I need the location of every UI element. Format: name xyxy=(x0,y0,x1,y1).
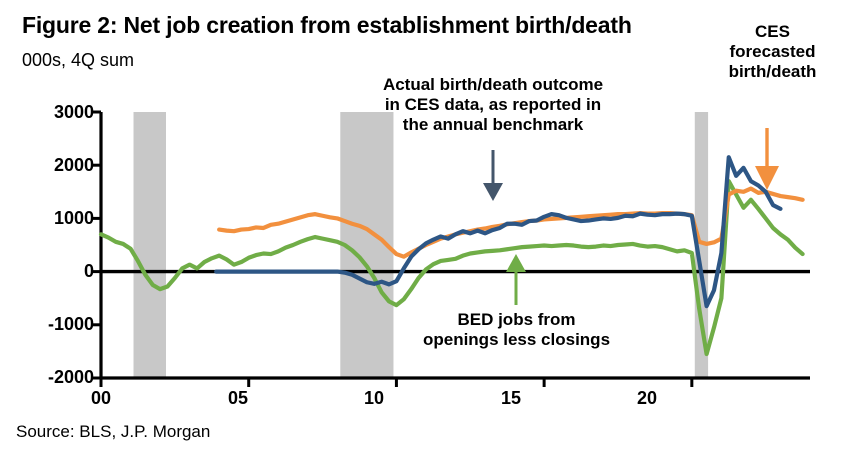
figure-container: Figure 2: Net job creation from establis… xyxy=(0,0,852,459)
arrow-actual-navy xyxy=(483,150,503,201)
arrow-bed-green xyxy=(506,254,526,305)
arrow-ces-orange xyxy=(755,128,779,190)
chart-svg xyxy=(0,0,852,459)
recession-band-2001 xyxy=(133,112,165,378)
